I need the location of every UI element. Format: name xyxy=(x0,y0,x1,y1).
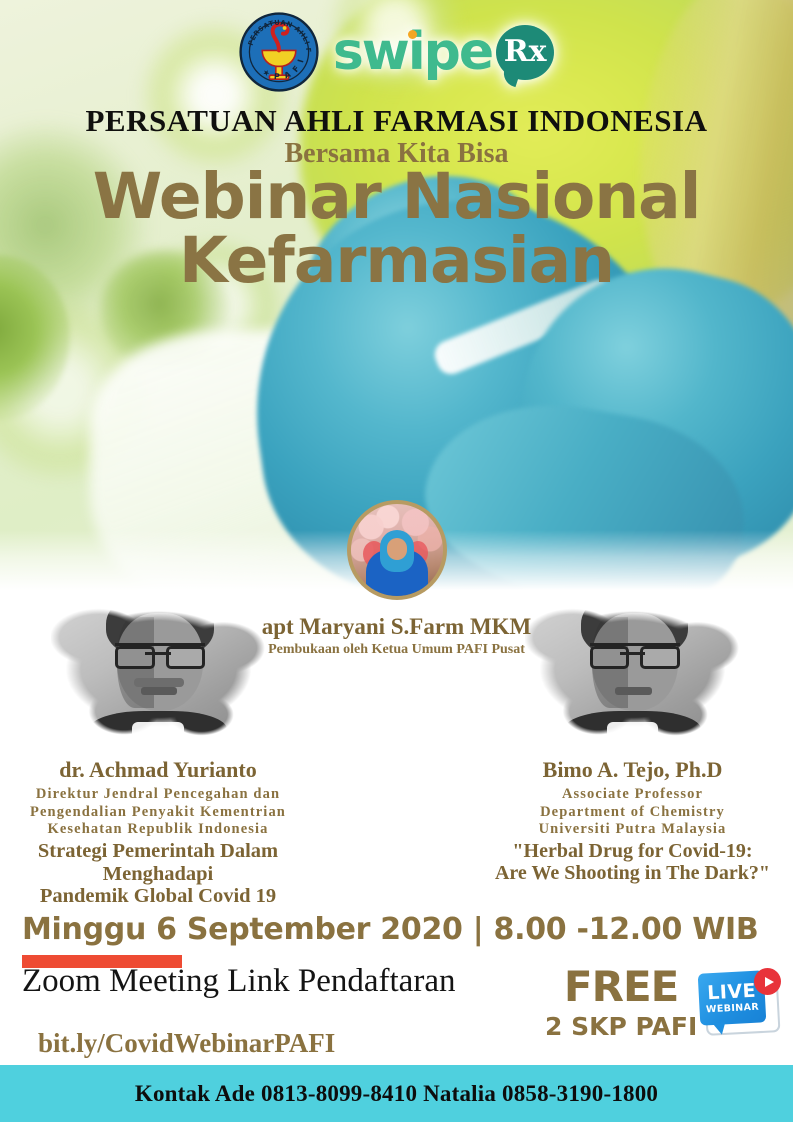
affiliation-line: Kesehatan Republik Indonesia xyxy=(8,821,308,839)
topic-line: Strategi Pemerintah Dalam Menghadapi xyxy=(8,840,308,885)
free-label: FREE xyxy=(545,966,697,1008)
webinar-poster: PERSATUAN AHLI FARMASI INDONESIA ★ P A F… xyxy=(0,0,793,1122)
affiliation-line: Direktur Jendral Pencegahan dan xyxy=(8,786,308,804)
photo-mouth xyxy=(615,687,652,696)
title-line-1: Webinar Nasional xyxy=(93,160,701,233)
speaker-topic-right: "Herbal Drug for Covid-19: Are We Shooti… xyxy=(480,840,785,884)
swiperx-wordmark: swipe xyxy=(333,26,492,78)
title-line-2: Kefarmasian xyxy=(0,229,793,293)
organization-name: PERSATUAN AHLI FARMASI INDONESIA xyxy=(0,103,793,139)
logo-row: PERSATUAN AHLI FARMASI INDONESIA ★ P A F… xyxy=(0,6,793,98)
avatar xyxy=(347,500,447,600)
center-speaker-name: apt Maryani S.Farm MKM xyxy=(0,614,793,640)
live-label: LIVE xyxy=(707,981,757,1003)
swipe-i-dot xyxy=(408,30,417,39)
speaker-name-left: dr. Achmad Yurianto xyxy=(8,757,308,783)
topic-line: Pandemik Global Covid 19 xyxy=(8,885,308,908)
photo-collar xyxy=(132,722,184,754)
speaker-affiliation-left: Direktur Jendral Pencegahan dan Pengenda… xyxy=(8,786,308,839)
skp-label: 2 SKP PAFI xyxy=(545,1014,697,1039)
center-speaker-block: apt Maryani S.Farm MKM Pembukaan oleh Ke… xyxy=(0,500,793,658)
live-webinar-badge-icon: LIVE WEBINAR xyxy=(697,968,781,1048)
contact-bar: Kontak Ade 0813-8099-8410 Natalia 0858-3… xyxy=(0,1065,793,1122)
speaker-name-right: Bimo A. Tejo, Ph.D xyxy=(480,757,785,783)
rx-label: Rx xyxy=(504,37,547,67)
contact-text: Kontak Ade 0813-8099-8410 Natalia 0858-3… xyxy=(135,1081,658,1107)
avatar-face xyxy=(387,538,407,560)
platform-registration-text: Zoom Meeting Link Pendaftaran xyxy=(22,963,455,1000)
affiliation-line: Associate Professor xyxy=(480,786,785,804)
speaker-affiliation-right: Associate Professor Department of Chemis… xyxy=(480,786,785,839)
affiliation-line: Pengendalian Penyakit Kementrian xyxy=(8,804,308,822)
date-time-text: Minggu 6 September 2020 | 8.00 -12.00 WI… xyxy=(22,912,758,947)
free-badge: FREE 2 SKP PAFI xyxy=(545,966,697,1039)
avatar-photo xyxy=(351,504,443,596)
topic-line: "Herbal Drug for Covid-19: xyxy=(480,840,785,862)
center-speaker-role: Pembukaan oleh Ketua Umum PAFI Pusat xyxy=(0,642,793,658)
photo-moustache xyxy=(134,678,183,687)
speaker-topic-left: Strategi Pemerintah Dalam Menghadapi Pan… xyxy=(8,840,308,908)
registration-link[interactable]: bit.ly/CovidWebinarPAFI xyxy=(38,1028,335,1059)
pafi-logo: PERSATUAN AHLI FARMASI INDONESIA ★ P A F… xyxy=(239,12,319,92)
webinar-label: WEBINAR xyxy=(706,1002,760,1014)
play-button-icon xyxy=(754,968,781,995)
affiliation-line: Department of Chemistry xyxy=(480,804,785,822)
photo-collar xyxy=(607,722,659,754)
rx-speech-bubble-icon: Rx xyxy=(496,25,554,80)
page-title: Webinar Nasional Kefarmasian xyxy=(0,165,793,294)
swiperx-logo: swipe Rx xyxy=(333,25,554,80)
affiliation-line: Universiti Putra Malaysia xyxy=(480,821,785,839)
topic-line: Are We Shooting in The Dark?" xyxy=(480,862,785,884)
photo-mouth xyxy=(141,687,178,696)
